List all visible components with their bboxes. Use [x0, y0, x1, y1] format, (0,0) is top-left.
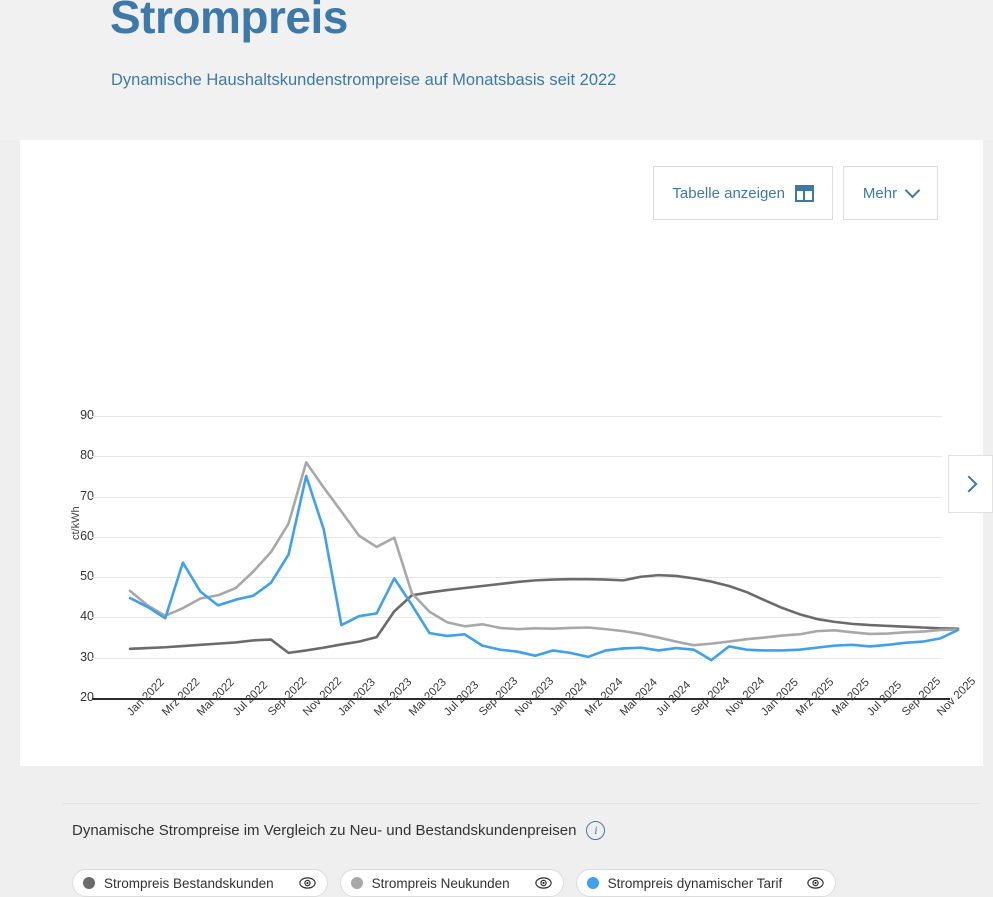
legend-item-label: Strompreis dynamischer Tarif	[608, 876, 783, 891]
chevron-right-icon	[960, 476, 977, 493]
page-title: Strompreis	[110, 0, 348, 45]
info-icon[interactable]: i	[586, 821, 605, 840]
eye-icon[interactable]	[283, 877, 316, 889]
legend-item[interactable]: Strompreis dynamischer Tarif	[576, 869, 837, 897]
chart-legend: Strompreis BestandskundenStrompreis Neuk…	[72, 869, 836, 897]
line-chart: ct/kWh 2030405060708090 Jan 2022Mrz 2022…	[20, 140, 983, 766]
legend-color-dot	[587, 877, 599, 889]
legend-item-label: Strompreis Neukunden	[372, 876, 510, 891]
series-line	[130, 476, 958, 660]
legend-item[interactable]: Strompreis Bestandskunden	[72, 869, 328, 897]
chart-caption: Dynamische Strompreise im Vergleich zu N…	[72, 821, 605, 840]
page-subtitle: Dynamische Haushaltskundenstrompreise au…	[111, 71, 616, 90]
chart-series-layer	[20, 140, 983, 766]
eye-icon[interactable]	[519, 877, 552, 889]
page-header: Strompreis Dynamische Haushaltskundenstr…	[0, 0, 993, 140]
series-line	[130, 462, 958, 645]
legend-color-dot	[83, 877, 95, 889]
section-divider	[62, 803, 980, 804]
legend-item[interactable]: Strompreis Neukunden	[340, 869, 564, 897]
legend-item-label: Strompreis Bestandskunden	[104, 876, 274, 891]
legend-color-dot	[351, 877, 363, 889]
series-line	[130, 575, 958, 653]
next-page-button[interactable]	[948, 455, 993, 513]
caption-text: Dynamische Strompreise im Vergleich zu N…	[72, 822, 576, 839]
chart-card: Tabelle anzeigen Mehr ct/kWh 20304050607…	[20, 140, 983, 766]
eye-icon[interactable]	[791, 877, 824, 889]
